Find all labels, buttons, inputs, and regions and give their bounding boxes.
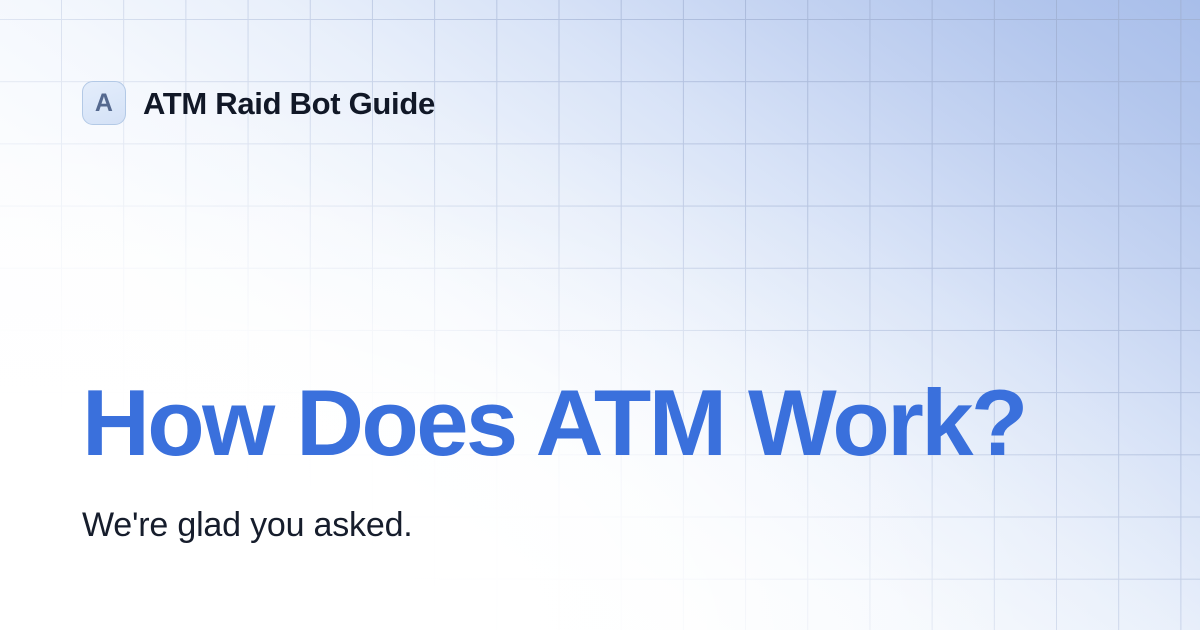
og-card: A ATM Raid Bot Guide How Does ATM Work? …: [0, 0, 1200, 630]
hero-subheadline: We're glad you asked.: [82, 506, 413, 545]
brand-lockup: A ATM Raid Bot Guide: [82, 81, 435, 125]
brand-title: ATM Raid Bot Guide: [143, 88, 435, 119]
brand-logo-badge: A: [82, 81, 126, 125]
card-content: A ATM Raid Bot Guide How Does ATM Work? …: [0, 0, 1200, 630]
hero-headline: How Does ATM Work?: [82, 376, 1026, 470]
